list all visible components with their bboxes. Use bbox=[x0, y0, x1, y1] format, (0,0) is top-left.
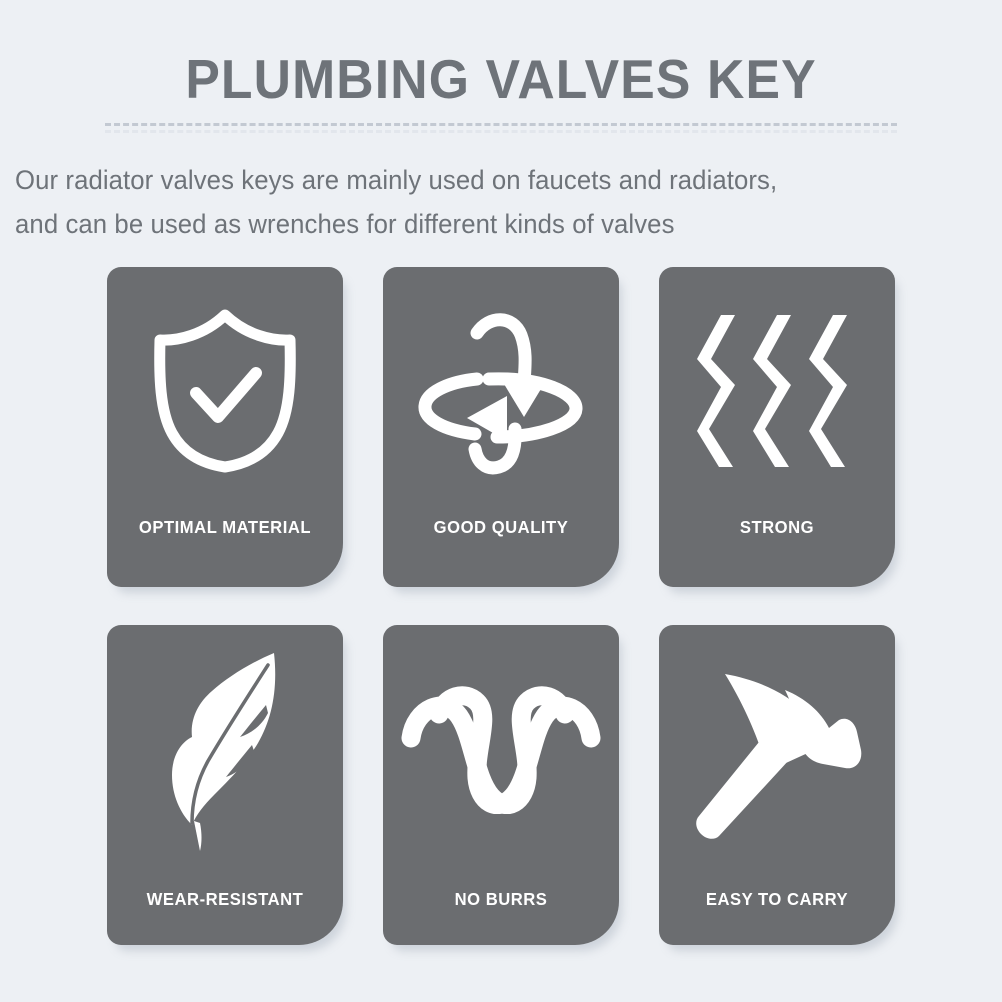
feature-card-easy-to-carry[interactable]: EASY TO CARRY bbox=[659, 625, 895, 945]
feature-card-wear-resistant[interactable]: WEAR-RESISTANT bbox=[107, 625, 343, 945]
divider-line bbox=[105, 123, 897, 126]
rotation-3d-icon bbox=[383, 267, 619, 515]
zigzag-strength-icon bbox=[659, 267, 895, 515]
feature-label: GOOD QUALITY bbox=[389, 517, 613, 537]
smooth-squiggle-icon bbox=[383, 625, 619, 875]
feature-label: STRONG bbox=[665, 517, 889, 537]
feature-card-strong[interactable]: STRONG bbox=[659, 267, 895, 587]
shield-check-icon bbox=[107, 267, 343, 515]
feature-label: OPTIMAL MATERIAL bbox=[113, 517, 337, 537]
subtitle-line-2: and can be used as wrenches for differen… bbox=[15, 202, 987, 246]
feather-icon bbox=[107, 625, 343, 875]
feature-label: EASY TO CARRY bbox=[665, 889, 889, 909]
feature-label: WEAR-RESISTANT bbox=[113, 889, 337, 909]
page-subtitle: Our radiator valves keys are mainly used… bbox=[15, 158, 987, 246]
divider-line-shadow bbox=[105, 130, 897, 133]
header: PLUMBING VALVES KEY bbox=[0, 0, 1002, 110]
feature-card-good-quality[interactable]: GOOD QUALITY bbox=[383, 267, 619, 587]
subtitle-line-1: Our radiator valves keys are mainly used… bbox=[15, 158, 987, 202]
title-divider bbox=[105, 123, 897, 133]
feature-card-grid: OPTIMAL MATERIAL GOOD QUALITY bbox=[107, 267, 895, 945]
page-title: PLUMBING VALVES KEY bbox=[30, 0, 972, 110]
feature-card-optimal-material[interactable]: OPTIMAL MATERIAL bbox=[107, 267, 343, 587]
feature-card-no-burrs[interactable]: NO BURRS bbox=[383, 625, 619, 945]
feature-label: NO BURRS bbox=[389, 889, 613, 909]
feature-key-poster: PLUMBING VALVES KEY Our radiator valves … bbox=[0, 0, 1002, 1002]
hammer-icon bbox=[659, 625, 895, 875]
